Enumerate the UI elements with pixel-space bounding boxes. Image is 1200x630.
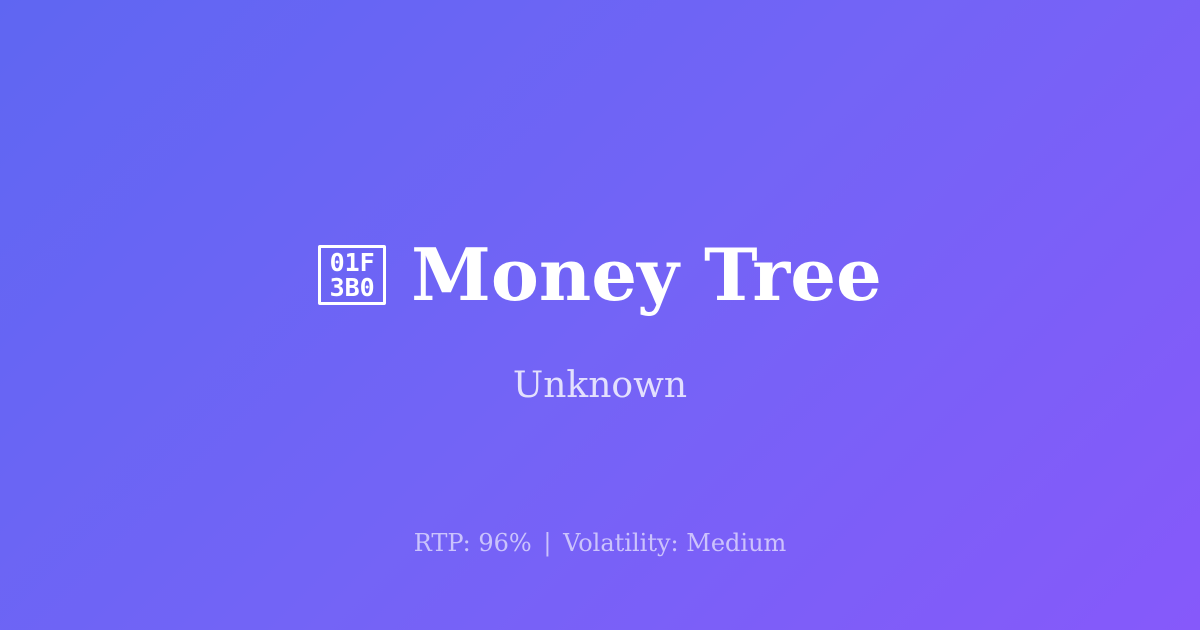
tofu-codepoint-top: 01F: [330, 250, 375, 275]
rtp-label: RTP: 96%: [414, 529, 532, 557]
page-subtitle: Unknown: [0, 363, 1200, 408]
meta-separator: |: [539, 529, 555, 557]
volatility-label: Volatility: Medium: [563, 529, 786, 557]
game-preview-card: 01F 3B0 Money Tree Unknown RTP: 96% | Vo…: [0, 0, 1200, 630]
game-meta-line: RTP: 96% | Volatility: Medium: [0, 528, 1200, 558]
slot-machine-emoji-tofu-icon: 01F 3B0: [318, 245, 386, 305]
title-row: 01F 3B0 Money Tree: [0, 232, 1200, 318]
tofu-codepoint-bottom: 3B0: [330, 275, 375, 300]
page-title: Money Tree: [411, 232, 882, 318]
